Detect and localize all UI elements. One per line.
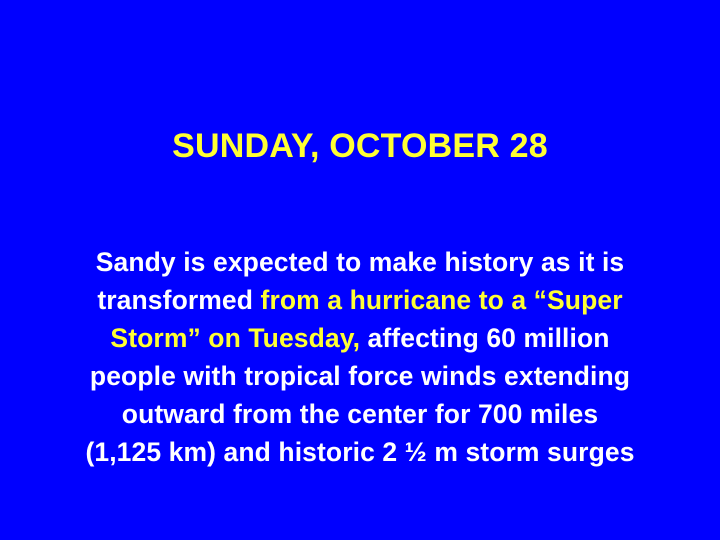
body-line: (1,125 km) and historic 2 ½ m storm surg…: [26, 433, 694, 471]
body-text: affecting 60 million: [360, 323, 609, 353]
body-line: Storm” on Tuesday, affecting 60 million: [26, 319, 694, 357]
slide-body-text: Sandy is expected to make history as it …: [26, 243, 694, 471]
body-line: people with tropical force winds extendi…: [26, 357, 694, 395]
body-line: Sandy is expected to make history as it …: [26, 243, 694, 281]
body-text: transformed: [97, 285, 260, 315]
body-text: (1,125 km) and historic 2 ½ m storm surg…: [85, 437, 634, 467]
highlighted-text: from a hurricane to a “Super: [261, 285, 623, 315]
body-text: outward from the center for 700 miles: [122, 399, 598, 429]
body-line: transformed from a hurricane to a “Super: [26, 281, 694, 319]
body-text: people with tropical force winds extendi…: [90, 361, 630, 391]
body-text: Sandy is expected to make history as it …: [96, 247, 625, 277]
presentation-slide: SUNDAY, OCTOBER 28 Sandy is expected to …: [0, 0, 720, 540]
highlighted-text: Storm” on Tuesday,: [110, 323, 360, 353]
body-line: outward from the center for 700 miles: [26, 395, 694, 433]
slide-title: SUNDAY, OCTOBER 28: [0, 126, 720, 166]
